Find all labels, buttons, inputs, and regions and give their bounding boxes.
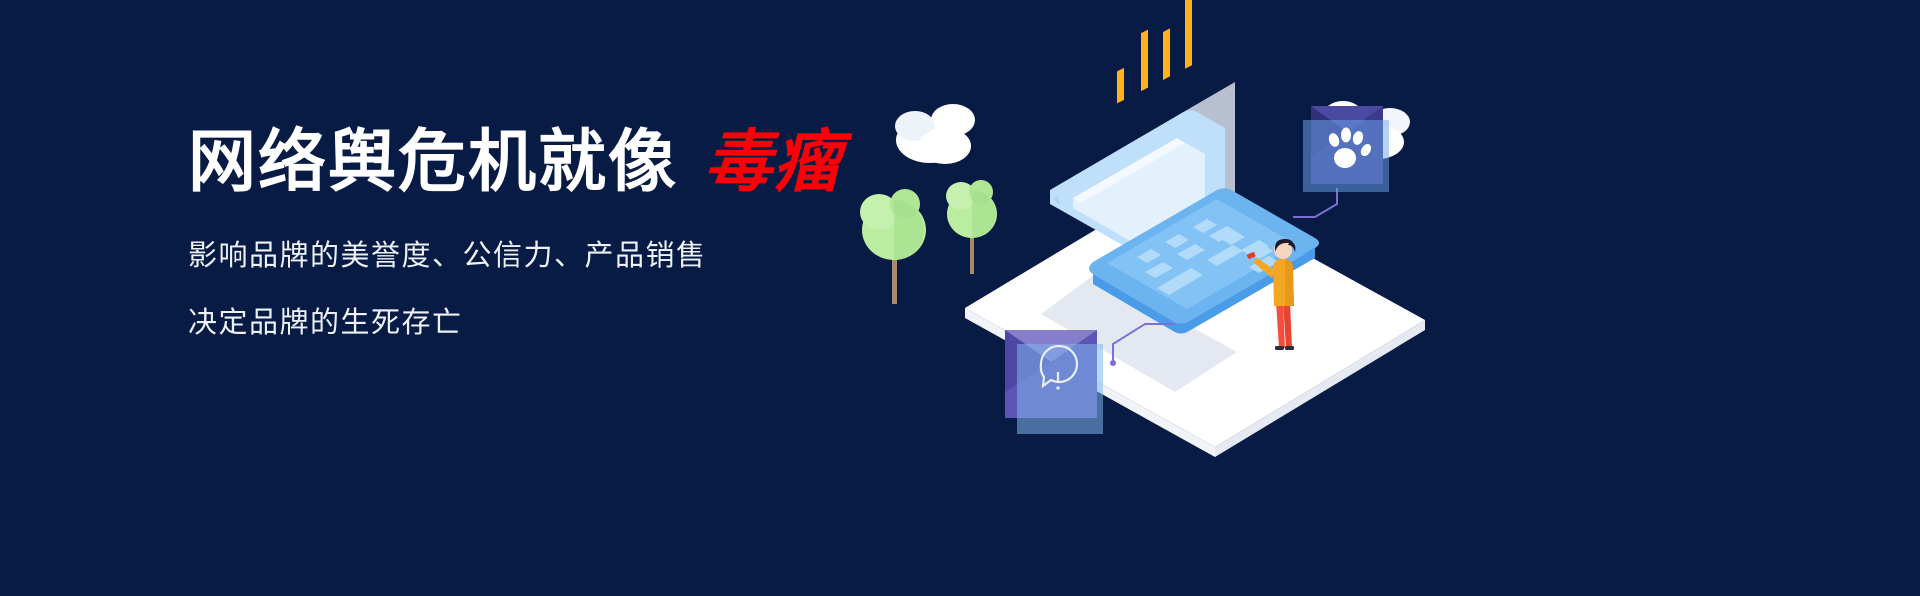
paw-print-panel <box>1303 106 1389 192</box>
page-title: 网络舆危机就像毒瘤 <box>188 128 908 196</box>
tree-icon-2 <box>946 180 997 274</box>
headline-white-part: 网络舆危机就像 <box>188 124 678 200</box>
hero-banner: 网络舆危机就像毒瘤 影响品牌的美誉度、公信力、产品销售 决定品牌的生死存亡 <box>0 0 1920 596</box>
alert-bubble-panel <box>1005 330 1103 434</box>
subtitle-line-2: 决定品牌的生死存亡 <box>188 309 908 338</box>
wire-endpoint-left <box>1110 360 1116 366</box>
subtitle-line-1: 影响品牌的美誉度、公信力、产品销售 <box>188 242 908 271</box>
cloud-icon-left <box>895 104 975 164</box>
wire-connector-right <box>1293 188 1337 217</box>
tree-icon-1 <box>860 189 926 304</box>
headline-red-emphasis: 毒瘤 <box>704 124 842 200</box>
banner-text-block: 网络舆危机就像毒瘤 影响品牌的美誉度、公信力、产品销售 决定品牌的生死存亡 <box>188 128 908 338</box>
screen-bar-chart <box>1117 0 1192 103</box>
hero-illustration <box>845 62 1465 442</box>
